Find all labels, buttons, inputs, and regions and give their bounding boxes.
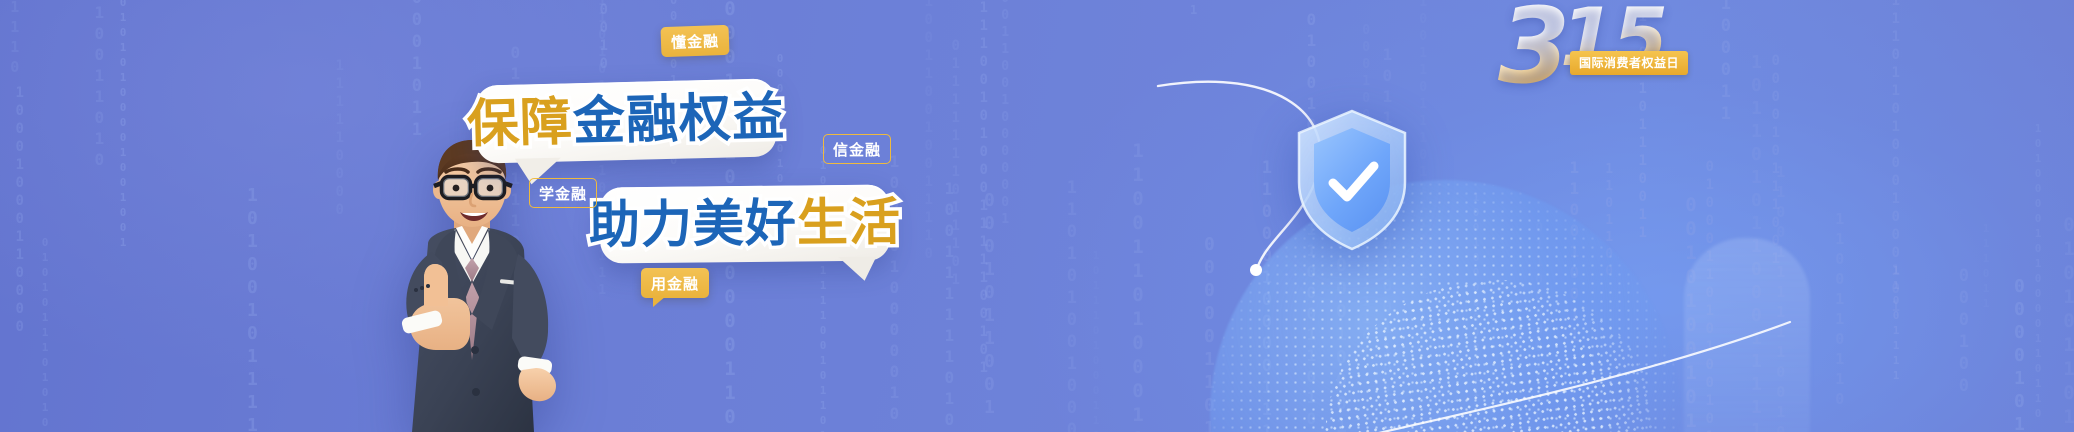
logo-subtitle-badge: 国际消费者权益日: [1570, 51, 1688, 75]
tag-xue-jinrong: 学金融: [529, 178, 597, 208]
tag-xin-jinrong: 信金融: [823, 134, 891, 164]
binary-column: 1100110110: [1831, 210, 1847, 410]
headline-secondary-gold: 生活: [797, 193, 902, 253]
tag-dong-label: 懂金融: [671, 30, 720, 53]
binary-column: 110011010001111101: [1127, 140, 1147, 432]
binary-column: 100111111010: [940, 179, 957, 431]
tag-dong-jinrong: 懂金融: [660, 25, 729, 57]
binary-column: 1010010111110011111: [242, 185, 261, 432]
campaign-banner: 0001001100001101110110011111101000000101…: [0, 0, 2074, 432]
binary-column: 01010111010101111111: [39, 236, 51, 432]
headline-primary-blue: 金融权益: [572, 87, 785, 152]
bubble-tail-secondary: [838, 257, 876, 281]
binary-column: 11111011010001000101: [1888, 0, 1903, 317]
orbit-lines: [1150, 70, 1750, 432]
tag-yong-label: 用金融: [651, 273, 699, 294]
binary-column: 000100: [1954, 266, 1972, 398]
binary-column: 011001: [631, 0, 647, 6]
binary-column: 1011101000110101010: [1090, 249, 1102, 432]
logo-315: 3 15 国际消费者权益日: [1498, 0, 1698, 106]
tag-xin-label: 信金融: [833, 139, 881, 160]
binary-column: 0000110010000001: [998, 0, 1012, 229]
binary-column: 111001010001111100101: [976, 0, 991, 378]
headline-bubble-primary: 保障金融权益: [475, 78, 777, 163]
binary-column: 111011: [1980, 222, 1992, 312]
binary-column: 0000101101100100001: [2009, 276, 2028, 432]
binary-column: 0001011001: [979, 190, 998, 420]
binary-column: 101110010: [596, 0, 611, 74]
tag-xue-label: 学金融: [539, 183, 587, 204]
binary-column: 111110: [6, 0, 22, 78]
headline-primary-gold: 保障: [466, 92, 573, 155]
binary-column: 111110000: [332, 58, 347, 220]
binary-column: 0000010111: [1187, 0, 1200, 19]
binary-column: 0101011011011: [2058, 214, 2074, 432]
headline-bubble-secondary: 助力美好生活: [600, 184, 891, 263]
binary-column: 0000001011: [407, 0, 425, 142]
binary-column: 01010100001001001: [117, 0, 129, 251]
binary-column: 10001000110000: [12, 85, 27, 337]
binary-column: 000010111001: [1768, 53, 1783, 269]
shield-check-icon: [1292, 108, 1412, 253]
tag-yong-jinrong: 用金融: [641, 268, 709, 298]
tag-yong-tail: [653, 296, 666, 307]
binary-column: 011111110011010: [90, 0, 107, 171]
binary-column: 10100001010000110110: [2032, 122, 2044, 422]
headline-secondary-blue: 助力美好: [589, 194, 798, 255]
logo-digit-3: 3: [1498, 0, 1566, 98]
shield-graphic: [1292, 108, 1412, 253]
binary-column: 00110100110010011110: [921, 0, 936, 264]
binary-column: 01111111011101: [948, 38, 963, 290]
binary-column: 110101001000: [1062, 178, 1080, 432]
binary-column: 11001111: [1890, 264, 1902, 384]
globe-graphic: [1150, 70, 1750, 432]
